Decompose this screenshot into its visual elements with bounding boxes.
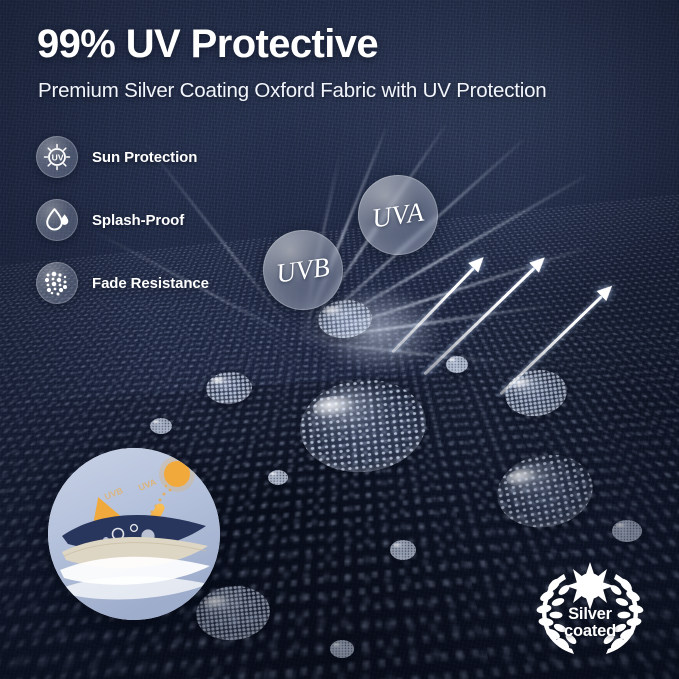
feature-label: Fade Resistance — [92, 275, 209, 292]
page-title: 99% UV Protective — [37, 22, 378, 67]
feature-item-splash-proof: Splash-Proof — [36, 199, 184, 241]
feature-label: Sun Protection — [92, 149, 197, 166]
fabric-layer-diagram: UVB UVA — [48, 448, 220, 620]
uvb-bubble: UVB — [263, 230, 343, 310]
silver-coated-badge: Silver coated — [528, 560, 652, 658]
feature-item-sun-protection: UV Sun Protection — [36, 136, 197, 178]
water-droplet-icon-glyph — [43, 206, 71, 234]
fade-dots-icon-glyph — [42, 268, 72, 298]
fabric-layer-diagram-graphic: UVB UVA — [48, 448, 220, 620]
badge-sun-icon — [566, 562, 614, 610]
product-feature-banner: UVA UVB 99% UV Protective Premium Silver… — [0, 0, 679, 679]
fade-dots-icon — [36, 262, 78, 304]
page-subtitle: Premium Silver Coating Oxford Fabric wit… — [38, 79, 547, 103]
uvb-bubble-label: UVB — [274, 251, 332, 289]
uv-sun-icon: UV — [36, 136, 78, 178]
uva-bubble: UVA — [358, 175, 438, 255]
badge-caption: Silver coated — [528, 606, 652, 641]
svg-text:UV: UV — [52, 153, 64, 163]
reflection-glow — [313, 285, 443, 375]
badge-caption-line1: Silver — [528, 606, 652, 623]
uv-sun-icon-glyph: UV — [42, 142, 72, 172]
feature-label: Splash-Proof — [92, 212, 184, 229]
uva-bubble-label: UVA — [370, 196, 426, 234]
feature-item-fade-resistance: Fade Resistance — [36, 262, 209, 304]
badge-caption-line2: coated — [528, 623, 652, 640]
water-droplet-icon — [36, 199, 78, 241]
